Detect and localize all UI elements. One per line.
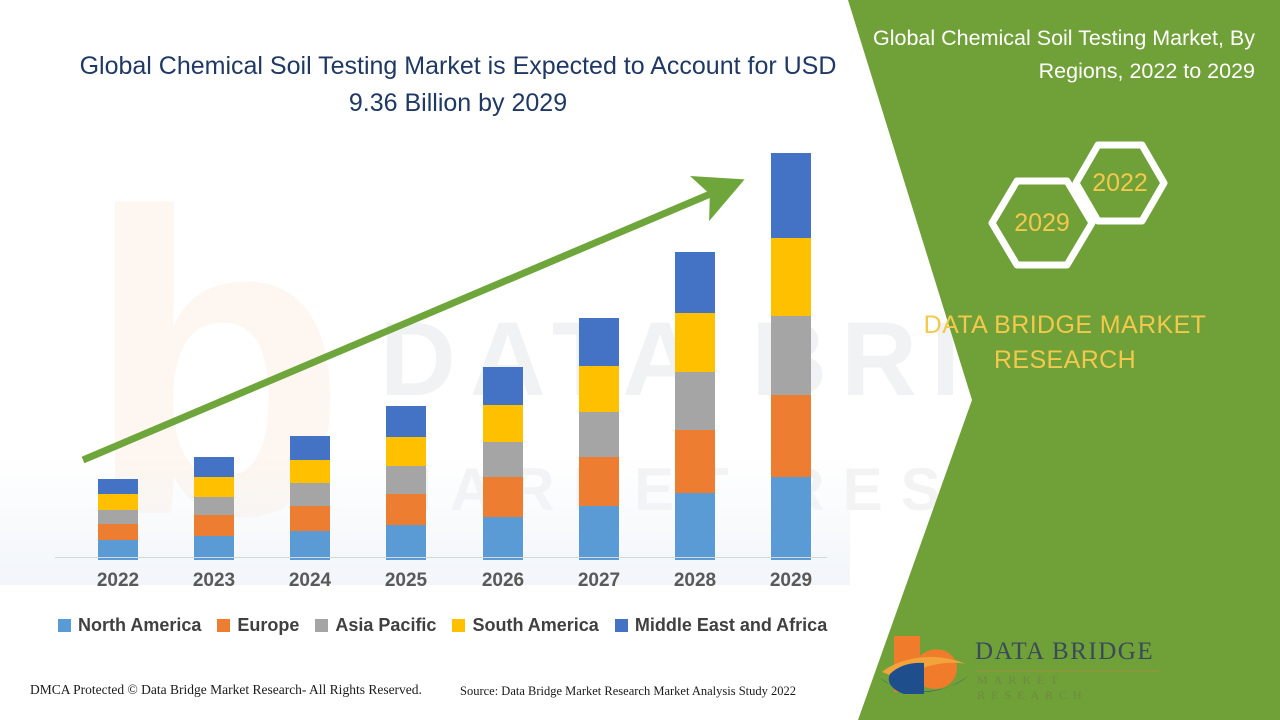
x-axis-label-2027: 2027: [559, 570, 639, 592]
bar-segment[interactable]: [579, 366, 619, 412]
bar-segment[interactable]: [771, 238, 811, 316]
bar-column-2024[interactable]: [290, 436, 330, 560]
bar-segment[interactable]: [771, 316, 811, 395]
legend-swatch-icon: [615, 619, 628, 632]
brand-name: DATA BRIDGE MARKET RESEARCH: [880, 308, 1250, 378]
bar-segment[interactable]: [579, 412, 619, 457]
bar-segment[interactable]: [675, 252, 715, 313]
bar-segment[interactable]: [771, 395, 811, 477]
x-axis-label-2029: 2029: [751, 570, 831, 592]
company-logo: DATA BRIDGE MARKET RESEARCH: [880, 630, 1180, 705]
bar-segment[interactable]: [290, 460, 330, 483]
bar-segment[interactable]: [98, 510, 138, 524]
bar-segment[interactable]: [675, 313, 715, 372]
legend-label: Asia Pacific: [335, 615, 436, 636]
legend-item[interactable]: Europe: [217, 615, 299, 636]
bar-segment[interactable]: [675, 430, 715, 492]
x-axis-line: [55, 557, 827, 558]
bar-column-2028[interactable]: [675, 252, 715, 560]
legend-swatch-icon: [58, 619, 71, 632]
bar-segment[interactable]: [98, 479, 138, 495]
bar-segment[interactable]: [290, 436, 330, 460]
legend-swatch-icon: [217, 619, 230, 632]
legend-label: Middle East and Africa: [635, 615, 827, 636]
bar-column-2022[interactable]: [98, 479, 138, 560]
bar-segment[interactable]: [98, 524, 138, 541]
bar-column-2029[interactable]: [771, 153, 811, 560]
x-axis-labels: 20222023202420252026202720282029: [55, 570, 835, 600]
x-axis-label-2022: 2022: [78, 570, 158, 592]
bar-segment[interactable]: [771, 153, 811, 238]
bar-segment[interactable]: [194, 497, 234, 516]
legend-label: North America: [78, 615, 201, 636]
brand-panel: Global Chemical Soil Testing Market, By …: [820, 0, 1280, 720]
bar-column-2027[interactable]: [579, 318, 619, 560]
bar-segment[interactable]: [290, 506, 330, 531]
bar-segment[interactable]: [290, 483, 330, 506]
bar-segment[interactable]: [386, 466, 426, 494]
bar-column-2026[interactable]: [483, 367, 523, 560]
dmca-notice: DMCA Protected © Data Bridge Market Rese…: [30, 682, 422, 698]
logo-text-main: DATA BRIDGE: [975, 638, 1154, 666]
legend-item[interactable]: Asia Pacific: [315, 615, 436, 636]
bar-column-2023[interactable]: [194, 457, 234, 560]
bar-segment[interactable]: [194, 515, 234, 536]
panel-title: Global Chemical Soil Testing Market, By …: [865, 22, 1255, 88]
bar-segment[interactable]: [483, 517, 523, 560]
chart-legend: North AmericaEuropeAsia PacificSouth Ame…: [58, 615, 838, 636]
x-axis-label-2025: 2025: [366, 570, 446, 592]
stacked-bar-chart: [55, 150, 835, 560]
bar-segment[interactable]: [483, 442, 523, 478]
x-axis-label-2023: 2023: [174, 570, 254, 592]
source-note: Source: Data Bridge Market Research Mark…: [460, 684, 796, 699]
legend-label: South America: [472, 615, 598, 636]
bar-segment[interactable]: [483, 477, 523, 516]
x-axis-label-2024: 2024: [270, 570, 350, 592]
bar-segment[interactable]: [386, 406, 426, 436]
legend-swatch-icon: [315, 619, 328, 632]
bar-column-2025[interactable]: [386, 406, 426, 560]
bar-segment[interactable]: [579, 457, 619, 506]
bar-segment[interactable]: [579, 506, 619, 560]
bar-segment[interactable]: [98, 494, 138, 509]
legend-label: Europe: [237, 615, 299, 636]
logo-text-sub: MARKET RESEARCH: [977, 673, 1180, 703]
bar-segment[interactable]: [194, 477, 234, 497]
hexagon-2029-label: 2029: [1014, 209, 1070, 237]
bar-segment[interactable]: [290, 531, 330, 560]
x-axis-label-2026: 2026: [463, 570, 543, 592]
bar-segment[interactable]: [675, 372, 715, 430]
bar-segment[interactable]: [386, 437, 426, 466]
bar-segment[interactable]: [579, 318, 619, 366]
logo-divider: [976, 670, 1159, 672]
legend-item[interactable]: Middle East and Africa: [615, 615, 827, 636]
legend-item[interactable]: North America: [58, 615, 201, 636]
bar-segment[interactable]: [386, 525, 426, 560]
bar-segment[interactable]: [386, 494, 426, 525]
bar-segment[interactable]: [194, 457, 234, 477]
hexagon-2022-label: 2022: [1092, 169, 1148, 197]
bar-segment[interactable]: [675, 493, 715, 560]
legend-swatch-icon: [452, 619, 465, 632]
chart-title: Global Chemical Soil Testing Market is E…: [78, 48, 838, 122]
infographic-root: b DATA BRIDGE MARKET RESEARCH Global Che…: [0, 0, 1280, 720]
hexagon-badges: 2029 2022: [980, 125, 1210, 305]
bar-segment[interactable]: [771, 477, 811, 560]
bar-segment[interactable]: [483, 405, 523, 442]
legend-item[interactable]: South America: [452, 615, 598, 636]
bar-segment[interactable]: [483, 367, 523, 405]
x-axis-label-2028: 2028: [655, 570, 735, 592]
